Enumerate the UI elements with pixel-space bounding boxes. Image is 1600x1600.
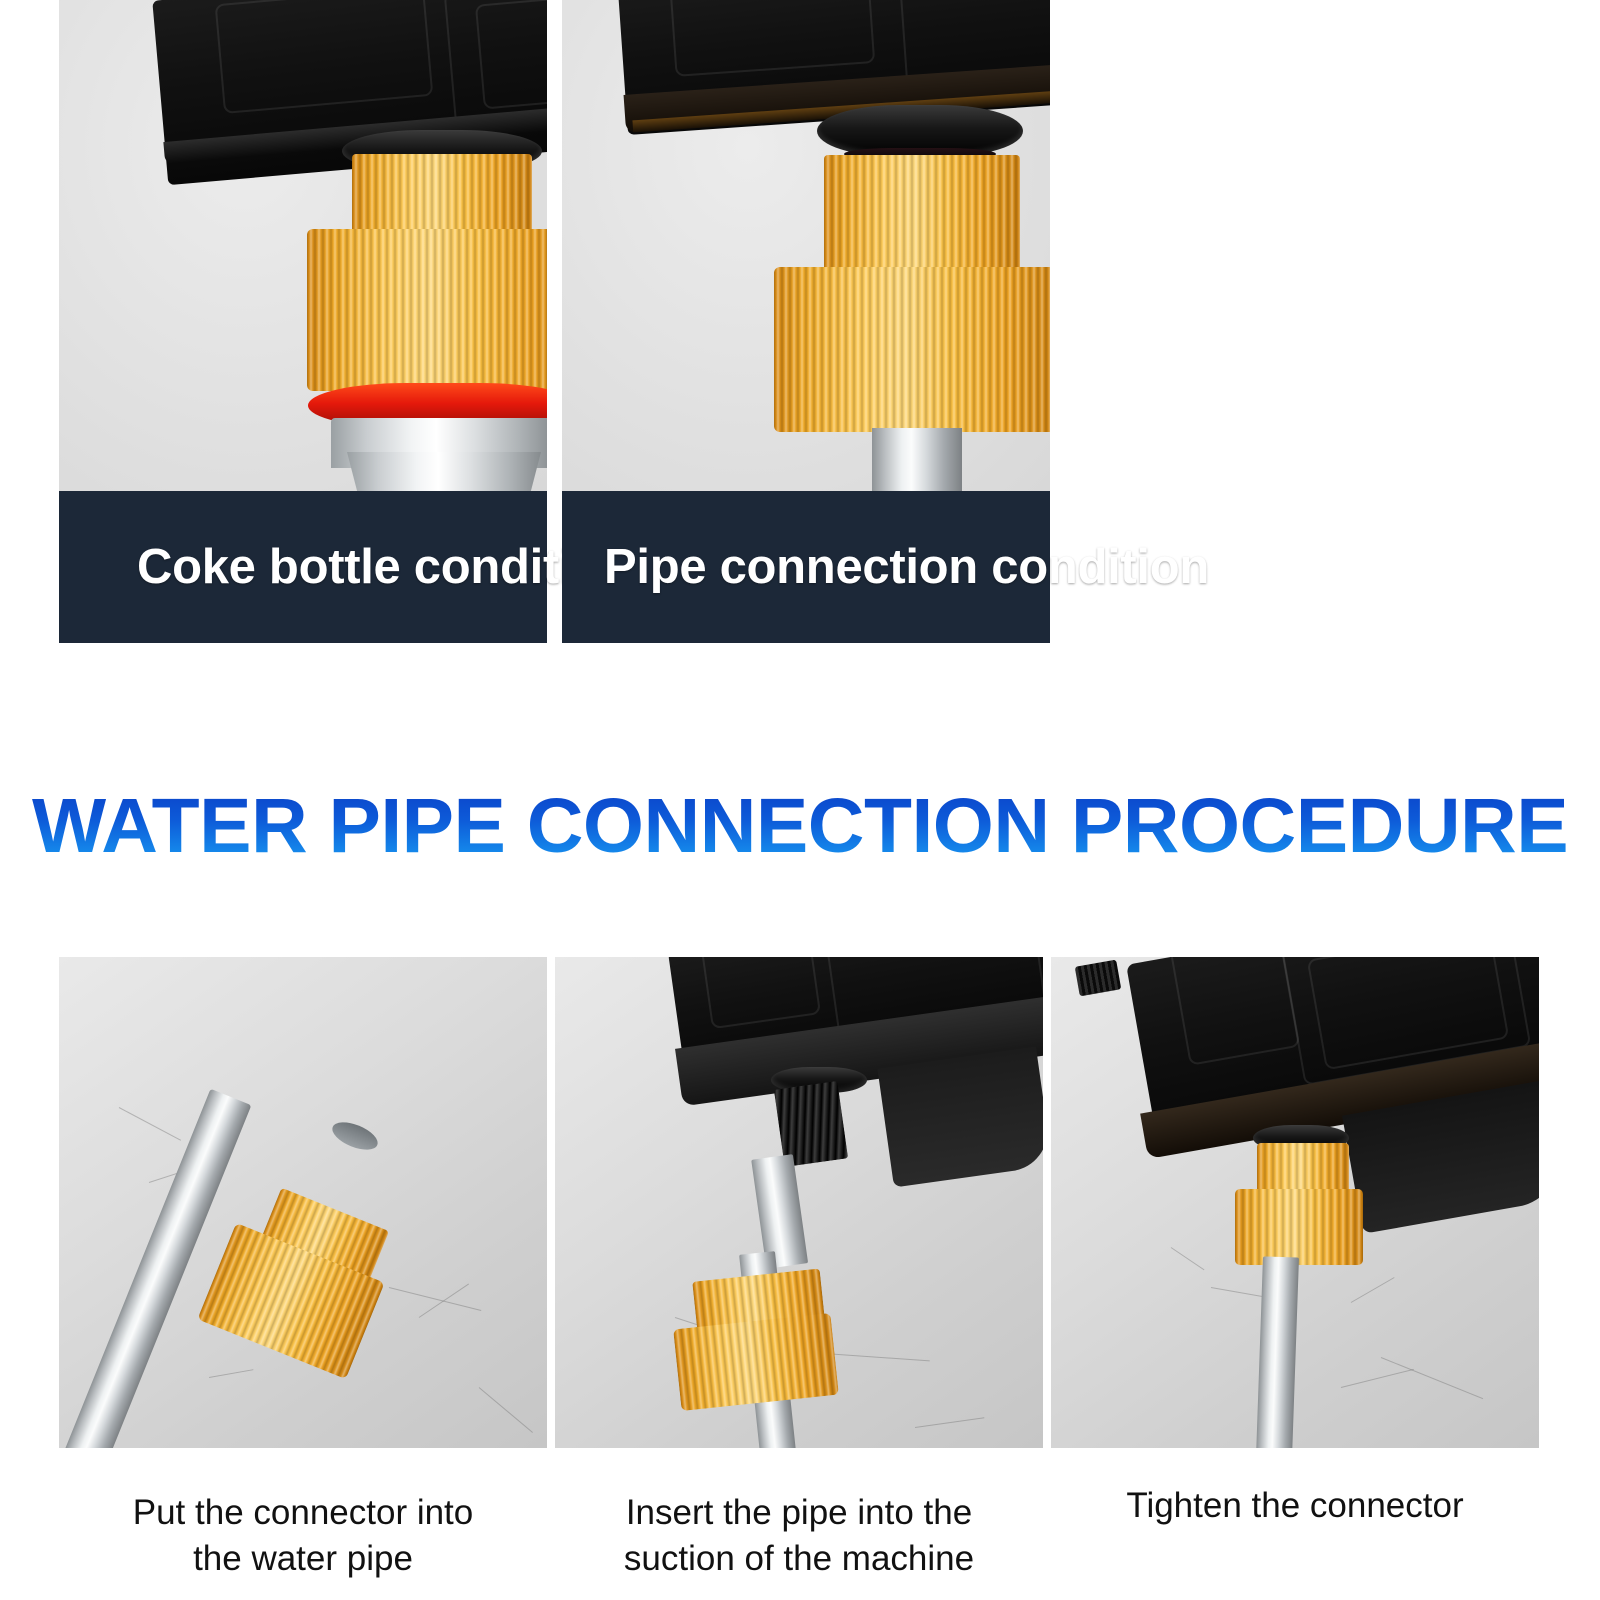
step-3-caption-wrap: Tighten the connector: [1051, 1448, 1539, 1600]
coke-bottle-condition-photo: [59, 0, 547, 491]
step-1: Put the connector into the water pipe: [59, 957, 547, 1600]
pipe-connection-caption: Pipe connection condition: [604, 539, 1209, 595]
step-put-connector-photo: [59, 957, 547, 1448]
procedure-step-row: Put the connector into the water pipe: [59, 957, 1540, 1600]
step-1-caption-wrap: Put the connector into the water pipe: [59, 1448, 547, 1600]
heading-section: WATER PIPE CONNECTION PROCEDURE: [0, 695, 1600, 957]
pipe-connection-banner: Pipe connection condition: [562, 491, 1050, 643]
step-2-caption-wrap: Insert the pipe into the suction of the …: [555, 1448, 1043, 1600]
infographic-page: Coke bottle condition: [0, 0, 1600, 1600]
step-3-caption: Tighten the connector: [1126, 1483, 1463, 1529]
coke-bottle-banner: Coke bottle condition: [59, 491, 547, 643]
top-panel-pipe-connection: Pipe connection condition: [562, 0, 1050, 643]
step-2: Insert the pipe into the suction of the …: [555, 957, 1043, 1600]
step-tighten-connector-photo: [1051, 957, 1539, 1448]
pipe-connection-condition-photo: [562, 0, 1050, 491]
page-title: WATER PIPE CONNECTION PROCEDURE: [32, 782, 1568, 871]
top-photo-row: Coke bottle condition: [59, 0, 1540, 695]
step-insert-pipe-photo: [555, 957, 1043, 1448]
step-1-caption: Put the connector into the water pipe: [133, 1490, 474, 1582]
coke-bottle-caption: Coke bottle condition: [137, 539, 632, 595]
top-panel-coke-bottle: Coke bottle condition: [59, 0, 547, 643]
step-3: Tighten the connector: [1051, 957, 1539, 1600]
step-2-caption: Insert the pipe into the suction of the …: [624, 1490, 974, 1582]
